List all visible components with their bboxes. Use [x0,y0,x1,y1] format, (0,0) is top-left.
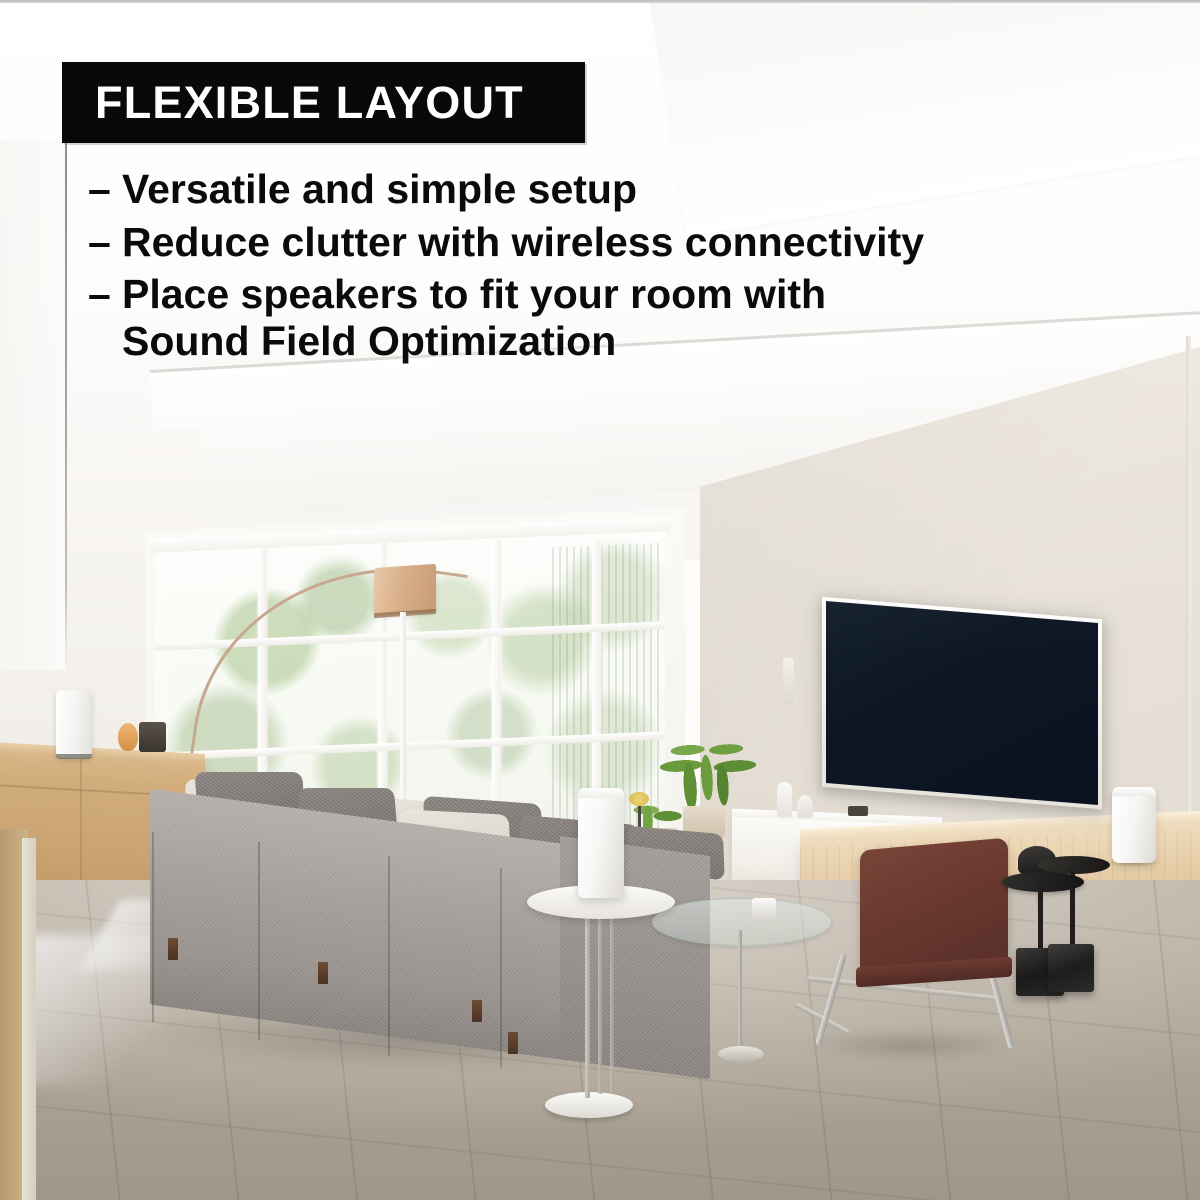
bullet-text-3: Place speakers to fit your room with Sou… [122,271,1108,364]
bullet-dash-icon: – [88,166,122,213]
bullet-item-1: – Versatile and simple setup [88,166,1108,213]
feature-bullet-list: – Versatile and simple setup – Reduce cl… [88,166,1108,370]
title-banner: FLEXIBLE LAYOUT [62,62,585,143]
bullet-dash-icon: – [88,219,122,266]
bullet-text-2: Reduce clutter with wireless connectivit… [122,219,1108,266]
bullet-text-1: Versatile and simple setup [122,166,1108,213]
page-title: FLEXIBLE LAYOUT [62,80,524,125]
top-border-line [0,0,1200,3]
bullet-dash-icon: – [88,271,122,364]
product-feature-image: FLEXIBLE LAYOUT – Versatile and simple s… [0,0,1200,1200]
bullet-text-3-line1: Place speakers to fit your room with [122,271,826,317]
bullet-item-3: – Place speakers to fit your room with S… [88,271,1108,364]
text-overlay: FLEXIBLE LAYOUT – Versatile and simple s… [0,0,1200,1200]
bullet-item-2: – Reduce clutter with wireless connectiv… [88,219,1108,266]
bullet-text-3-line2: Sound Field Optimization [122,318,1108,365]
